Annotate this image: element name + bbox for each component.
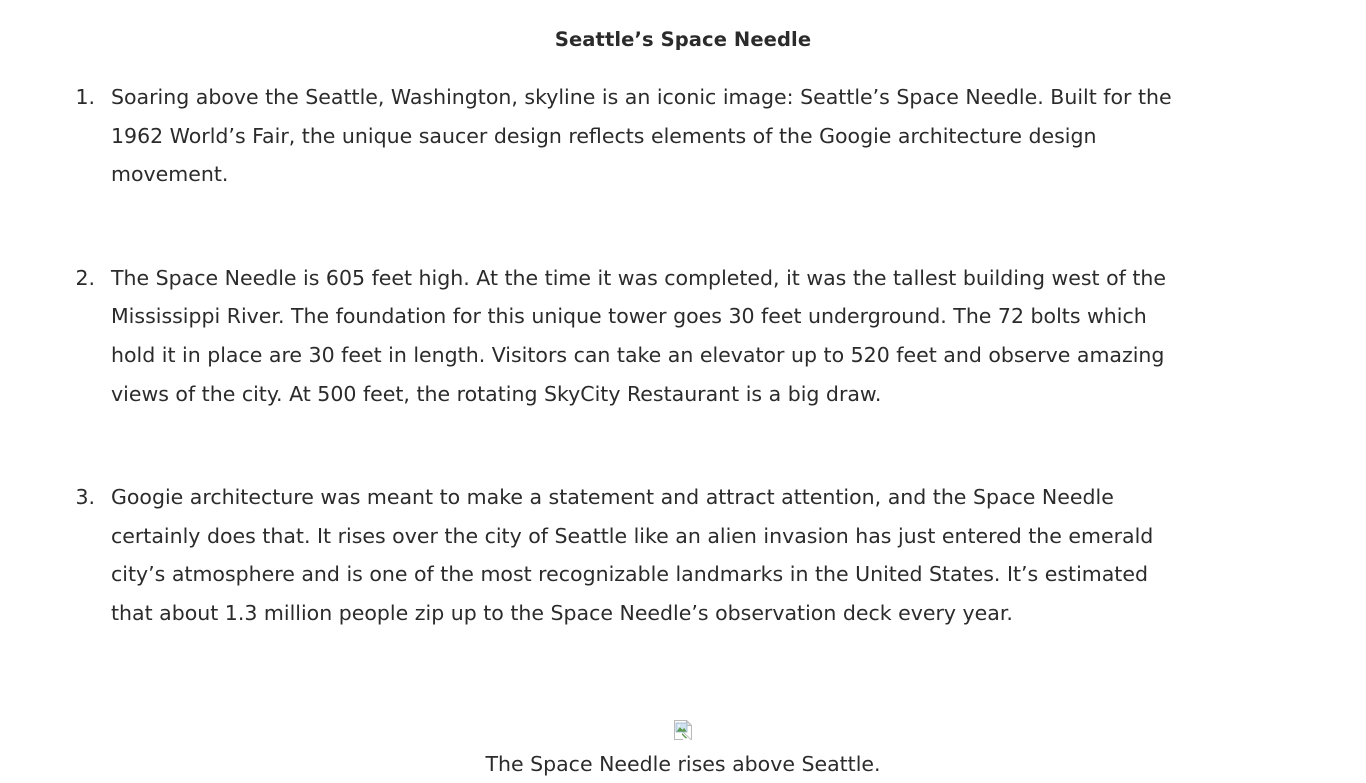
- list-item-text: The Space Needle is 605 feet high. At th…: [111, 259, 1196, 413]
- figure-caption: The Space Needle rises above Seattle.: [40, 740, 1326, 783]
- broken-image-icon: [674, 720, 692, 740]
- document-page: Seattle’s Space Needle 1. Soaring above …: [0, 0, 1366, 768]
- list-item-marker: 3.: [0, 478, 95, 517]
- list-item: 3. Googie architecture was meant to make…: [0, 478, 1366, 632]
- list-item: 2. The Space Needle is 605 feet high. At…: [0, 259, 1366, 413]
- list-item-marker: 1.: [0, 78, 95, 117]
- list-item-marker: 2.: [0, 259, 95, 298]
- page-title: Seattle’s Space Needle: [0, 0, 1366, 52]
- figure: The Space Needle rises above Seattle.: [40, 719, 1326, 783]
- ordered-list: 1. Soaring above the Seattle, Washington…: [0, 52, 1366, 633]
- list-item: 1. Soaring above the Seattle, Washington…: [0, 78, 1366, 194]
- list-item-text: Soaring above the Seattle, Washington, s…: [111, 78, 1196, 194]
- list-item-text: Googie architecture was meant to make a …: [111, 478, 1196, 632]
